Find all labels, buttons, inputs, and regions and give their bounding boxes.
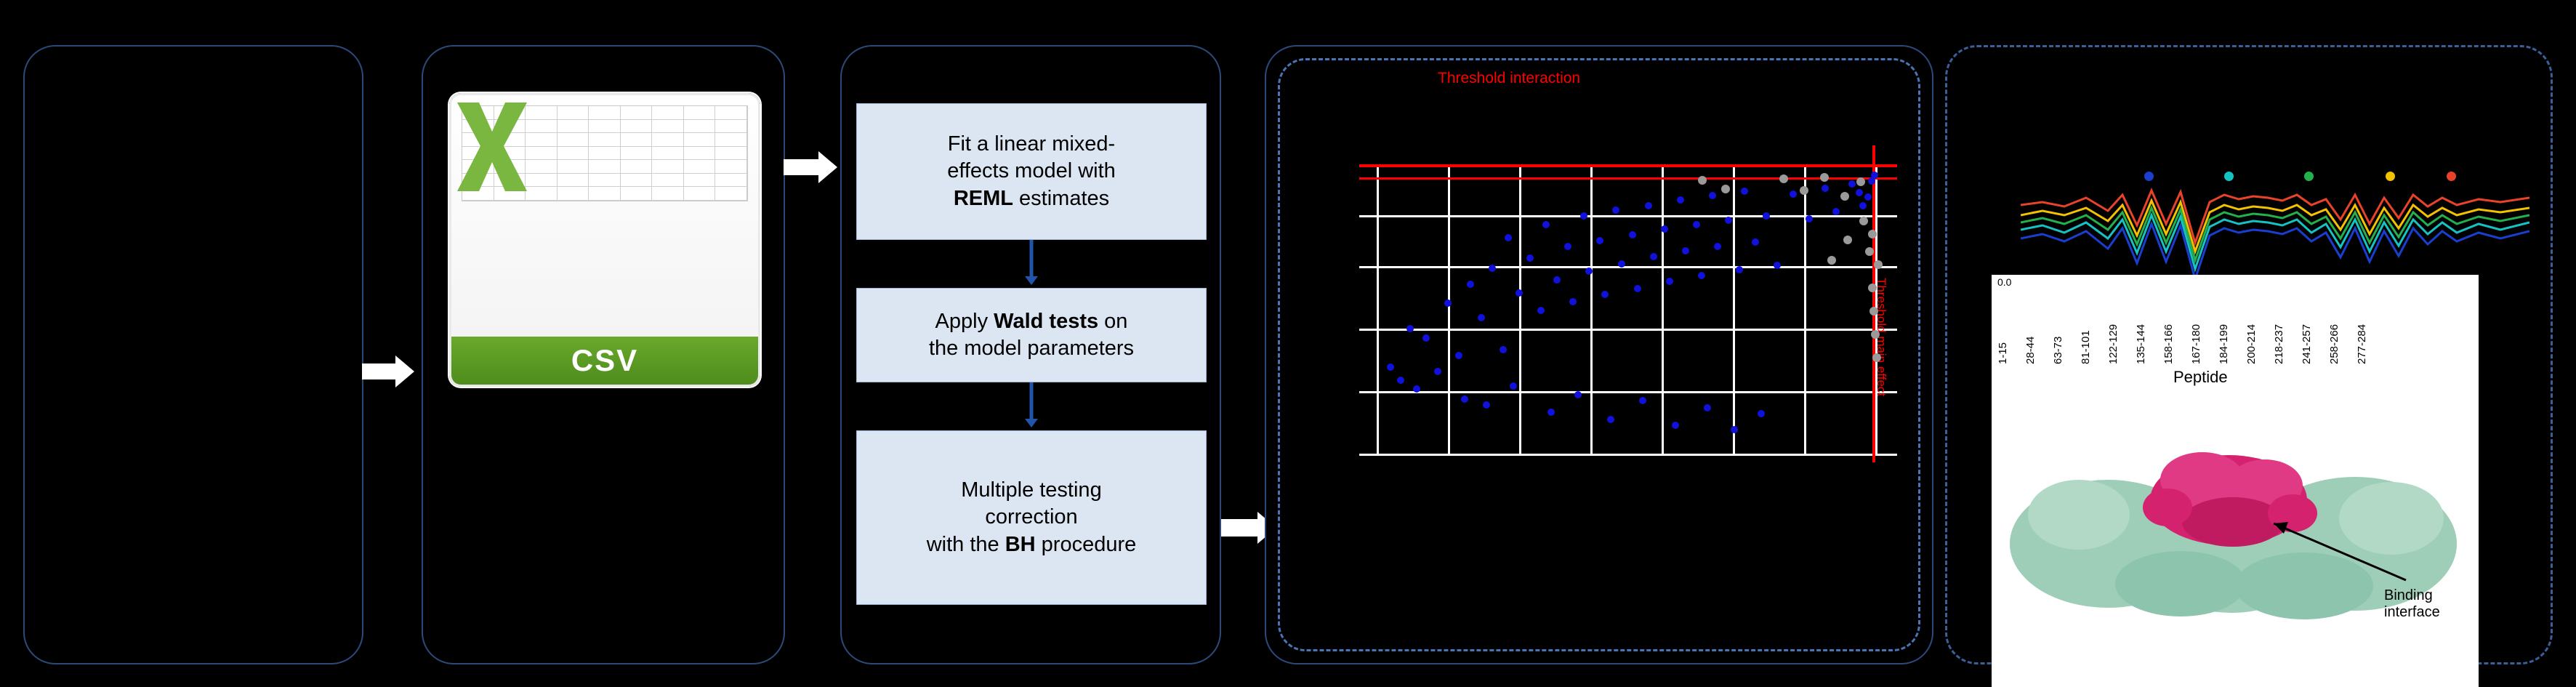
grid-line-horizontal <box>1359 454 1897 456</box>
step-model-box: Fit a linear mixed- effects model with R… <box>856 103 1207 240</box>
y-axis-top-label: 0.0 <box>1997 276 2011 288</box>
structure-figure-card: 0.0 1-15 28-44 63-73 81-101 122-129 135-… <box>1992 275 2479 687</box>
threshold-line-interaction-2 <box>1359 177 1897 180</box>
step-model-emphasis: REML <box>954 187 1013 210</box>
peptide-tick-label: 241-257 <box>2301 324 2313 364</box>
legend-dot-series-1 <box>2144 172 2154 181</box>
csv-format-label: CSV <box>571 343 638 378</box>
step-correction-emphasis: BH <box>1005 533 1036 556</box>
legend-dot-series-3 <box>2304 172 2314 181</box>
input-panel <box>23 45 363 664</box>
peptide-tick-label: 28-44 <box>2024 337 2037 364</box>
threshold-scatter-plot: Threshold interaction Threshold main eff… <box>1359 145 1897 523</box>
legend-dot-series-2 <box>2224 172 2234 181</box>
csv-file-icon: CSV <box>449 93 760 387</box>
peptide-tick-label: 81-101 <box>2080 330 2092 364</box>
peptide-tick-label: 184-199 <box>2218 324 2230 364</box>
peptide-tick-label: 258-266 <box>2328 324 2340 364</box>
peptide-tick-label: 218-237 <box>2273 324 2285 364</box>
step-wald-box: Apply Wald tests on the model parameters <box>856 288 1207 382</box>
csv-format-band: CSV <box>451 337 758 385</box>
arrow-model-to-wald <box>1023 240 1039 286</box>
step-wald-emphasis: Wald tests <box>994 310 1098 333</box>
step-correction-line1: Multiple testing <box>961 478 1101 502</box>
step-wald-line2: the model parameters <box>929 337 1134 360</box>
binding-interface-line1: Binding <box>2384 587 2433 603</box>
grid-line-vertical <box>1519 166 1521 454</box>
peptide-tick-label: 200-214 <box>2245 324 2258 364</box>
step-correction-prefix: with the <box>927 533 1005 556</box>
peptide-tick-label: 135-144 <box>2135 324 2147 364</box>
peptide-tick-label: 167-180 <box>2190 324 2202 364</box>
step-correction-line2: correction <box>985 505 1077 529</box>
peptide-tick-label: 122-129 <box>2107 324 2120 364</box>
step-wald-suffix: on <box>1098 310 1127 333</box>
peptide-tick-label: 1-15 <box>1997 342 2009 364</box>
grid-line-vertical <box>1662 166 1664 454</box>
grid-line-horizontal <box>1359 215 1897 217</box>
binding-interface-line2: interface <box>2384 604 2440 620</box>
grid-line-vertical <box>1448 166 1450 454</box>
grid-line-vertical <box>1377 166 1379 454</box>
step-model-suffix: estimates <box>1013 187 1109 210</box>
arrow-input-to-csv <box>362 353 414 390</box>
grid-line-horizontal <box>1359 329 1897 331</box>
grid-line-horizontal <box>1359 266 1897 268</box>
arrow-csv-to-analysis <box>784 149 840 185</box>
excel-x-icon <box>454 100 530 194</box>
step-correction-suffix: procedure <box>1036 533 1137 556</box>
peptide-tick-label: 277-284 <box>2356 324 2368 364</box>
arrow-wald-to-correction <box>1023 382 1039 429</box>
scatter-title: Threshold interaction <box>1438 70 1580 87</box>
step-wald-prefix: Apply <box>935 310 994 333</box>
grid-line-vertical <box>1804 166 1806 454</box>
step-model-line2: effects model with <box>947 159 1116 182</box>
step-correction-box: Multiple testing correction with the BH … <box>856 430 1207 605</box>
threshold-line-interaction <box>1359 164 1897 167</box>
step-model-line1: Fit a linear mixed- <box>948 132 1115 156</box>
peptide-tick-label: 158-166 <box>2162 324 2175 364</box>
legend-dot-series-4 <box>2386 172 2395 181</box>
legend-dot-series-5 <box>2447 172 2456 181</box>
grid-line-vertical <box>1733 166 1735 454</box>
peptide-tick-label: 63-73 <box>2052 337 2064 364</box>
peptide-axis-label: Peptide <box>2173 368 2228 387</box>
grid-line-vertical <box>1590 166 1593 454</box>
binding-interface-label: Binding interface <box>2384 587 2440 621</box>
peptide-line-chart <box>2021 173 2529 282</box>
grid-line-horizontal <box>1359 391 1897 393</box>
